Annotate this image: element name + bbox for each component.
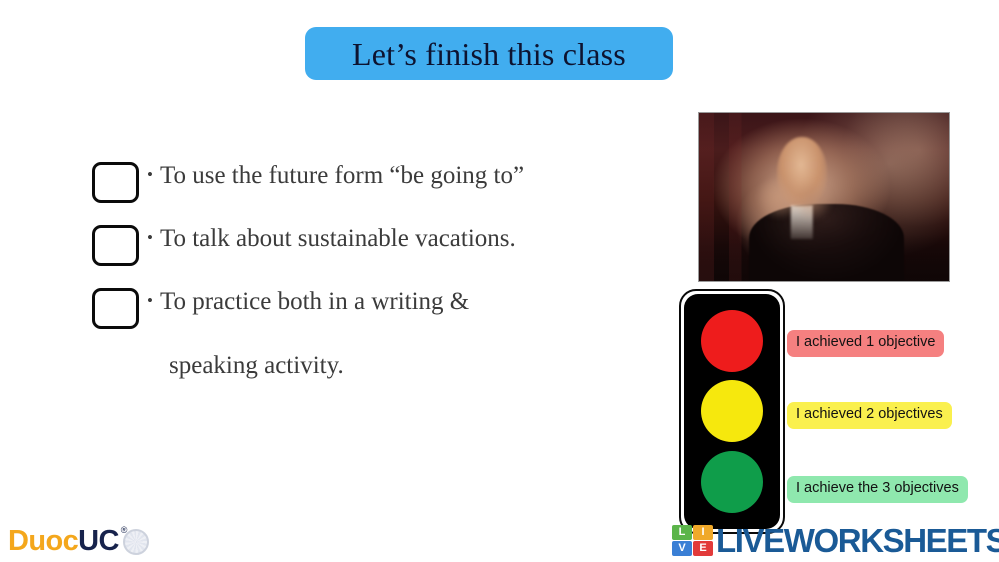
badge-achieved-1-objective[interactable]: I achieved 1 objective	[787, 330, 944, 357]
page-title: Let’s finish this class	[352, 38, 626, 70]
lws-tile-i: I	[693, 525, 713, 540]
objective-item-1: To use the future form “be going to”	[92, 155, 652, 203]
objective-label-2: To talk about sustainable vacations.	[147, 218, 652, 259]
green-lamp[interactable]	[701, 451, 763, 513]
objective-text-1: To use the future form “be going to”	[139, 155, 652, 196]
applause-photo	[698, 112, 950, 282]
objective-checkbox-2[interactable]	[92, 225, 139, 266]
traffic-light-housing	[684, 294, 780, 529]
lws-wordmark: LIVEWORKSHEETS	[716, 524, 999, 557]
objective-label-3-continued: speaking activity.	[147, 346, 652, 386]
yellow-lamp[interactable]	[701, 380, 763, 442]
slide-canvas: { "slide": { "title": "Let\u2019s finish…	[0, 0, 999, 562]
objective-item-2: To talk about sustainable vacations.	[92, 218, 652, 266]
objectives-checklist: To use the future form “be going to” To …	[92, 155, 652, 401]
lws-tile-e: E	[693, 541, 713, 556]
crest-circle	[123, 529, 149, 555]
badge-achieved-3-objectives[interactable]: I achieve the 3 objectives	[787, 476, 968, 503]
liveworksheets-logo: L I V E LIVEWORKSHEETS	[672, 521, 999, 559]
traffic-light	[679, 289, 785, 534]
title-banner: Let’s finish this class	[305, 27, 673, 80]
objective-label-1: To use the future form “be going to”	[147, 155, 652, 196]
duoc-uc-logo: Duoc UC ®	[8, 524, 151, 558]
lws-tile-l: L	[672, 525, 692, 540]
lws-letter-tiles: L I V E	[672, 525, 713, 556]
lws-tile-v: V	[672, 541, 692, 556]
uc-wordmark: UC	[78, 527, 119, 556]
objective-item-3: To practice both in a writing & speaking…	[92, 281, 652, 386]
objective-checkbox-3[interactable]	[92, 288, 139, 329]
red-lamp[interactable]	[701, 310, 763, 372]
objective-text-3: To practice both in a writing & speaking…	[139, 281, 652, 386]
objective-text-2: To talk about sustainable vacations.	[139, 218, 652, 259]
objective-label-3: To practice both in a writing &	[147, 281, 652, 322]
objective-checkbox-1[interactable]	[92, 162, 139, 203]
badge-achieved-2-objectives[interactable]: I achieved 2 objectives	[787, 402, 952, 429]
duoc-wordmark: Duoc	[8, 527, 78, 556]
duoc-crest-icon: ®	[121, 526, 151, 556]
clapping-hands	[754, 170, 839, 237]
